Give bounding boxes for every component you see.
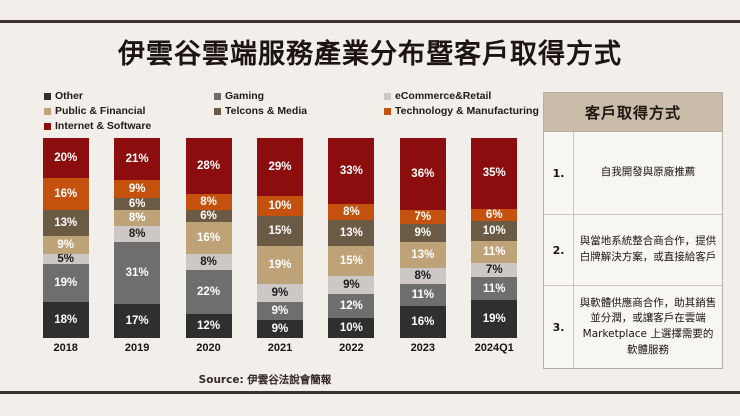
legend-item-telcons-media[interactable]: Telcons & Media — [214, 106, 384, 117]
legend-item-other[interactable]: Other — [44, 91, 214, 102]
bar-segment: 9% — [257, 320, 303, 338]
legend-item-internet-software[interactable]: Internet & Software — [44, 121, 214, 132]
bar-column[interactable]: 28%8%6%16%8%22%12% — [174, 138, 244, 338]
bar-segment: 15% — [257, 216, 303, 246]
bar-segment: 10% — [257, 196, 303, 216]
row-number: 3. — [544, 286, 574, 368]
legend-swatch-icon — [384, 108, 391, 115]
x-axis-tick-label: 2018 — [31, 342, 101, 354]
legend-swatch-icon — [214, 93, 221, 100]
legend-item-label: Telcons & Media — [225, 106, 307, 117]
bar-segment: 17% — [114, 304, 160, 338]
legend-swatch-icon — [44, 108, 51, 115]
bar-column[interactable]: 35%6%10%11%7%11%19% — [459, 138, 529, 338]
bar-segment: 11% — [400, 284, 446, 306]
stacked-bar: 21%9%6%8%8%31%17% — [114, 138, 160, 338]
customer-acquisition-panel: 客戶取得方式 1.自我開發與原廠推薦2.與當地系統整合商合作，提供白牌解決方案，… — [543, 92, 723, 369]
bar-segment: 6% — [114, 198, 160, 210]
bar-segment: 8% — [328, 204, 374, 220]
legend-item-gaming[interactable]: Gaming — [214, 91, 384, 102]
bar-segment: 19% — [257, 246, 303, 284]
row-number: 2. — [544, 215, 574, 285]
bar-segment: 18% — [43, 302, 89, 338]
legend-item-label: Internet & Software — [55, 121, 151, 132]
bar-segment: 8% — [186, 194, 232, 210]
bar-segment: 29% — [257, 138, 303, 196]
bar-segment: 16% — [400, 306, 446, 338]
x-axis-tick-label: 2022 — [316, 342, 386, 354]
bar-column[interactable]: 20%16%13%9%5%19%18% — [31, 138, 101, 338]
x-axis-tick-label: 2019 — [102, 342, 172, 354]
legend-item-label: Gaming — [225, 91, 264, 102]
bar-segment: 8% — [114, 226, 160, 242]
bar-segment: 19% — [471, 300, 517, 338]
source-note: Source: 伊雲谷法說會簡報 — [0, 372, 530, 387]
stacked-bar: 35%6%10%11%7%11%19% — [471, 138, 517, 338]
x-axis-tick-label: 2023 — [388, 342, 458, 354]
legend-item-label: Other — [55, 91, 83, 102]
bar-segment: 36% — [400, 138, 446, 210]
page-title: 伊雲谷雲端服務產業分布暨客戶取得方式 — [0, 32, 740, 71]
legend-item-label: Public & Financial — [55, 106, 145, 117]
legend-item-label: Technology & Manufacturing — [395, 106, 539, 117]
bar-segment: 13% — [43, 210, 89, 236]
stacked-bar: 20%16%13%9%5%19%18% — [43, 138, 89, 338]
bar-segment: 21% — [114, 138, 160, 180]
x-axis-tick-label: 2021 — [245, 342, 315, 354]
slide-root: 伊雲谷雲端服務產業分布暨客戶取得方式 OtherGamingeCommerce&… — [0, 0, 740, 416]
bar-column[interactable]: 36%7%9%13%8%11%16% — [388, 138, 458, 338]
legend-swatch-icon — [44, 93, 51, 100]
bar-segment: 12% — [328, 294, 374, 318]
bar-column[interactable]: 33%8%13%15%9%12%10% — [316, 138, 386, 338]
bar-segment: 28% — [186, 138, 232, 194]
bar-segment: 11% — [471, 241, 517, 263]
bar-segment: 9% — [400, 224, 446, 242]
table-row: 3.與軟體供應商合作，助其銷售並分潤，或讓客戶在雲端 Marketplace 上… — [544, 286, 722, 368]
row-description: 與軟體供應商合作，助其銷售並分潤，或讓客戶在雲端 Marketplace 上選擇… — [574, 286, 722, 368]
bar-segment: 13% — [400, 242, 446, 268]
bottom-divider — [0, 391, 740, 394]
legend-item-label: eCommerce&Retail — [395, 91, 491, 102]
bar-segment: 6% — [186, 210, 232, 222]
table-row: 1.自我開發與原廠推薦 — [544, 132, 722, 215]
panel-rows: 1.自我開發與原廠推薦2.與當地系統整合商合作，提供白牌解決方案，或直接給客戶3… — [544, 132, 722, 368]
x-axis-labels: 2018201920202021202220232024Q1 — [30, 342, 530, 354]
legend-item-technology-manufacturing[interactable]: Technology & Manufacturing — [384, 106, 564, 117]
bar-segment: 20% — [43, 138, 89, 178]
legend-item-ecommerce-retail[interactable]: eCommerce&Retail — [384, 91, 564, 102]
bar-segment: 11% — [471, 277, 517, 299]
row-description: 與當地系統整合商合作，提供白牌解決方案，或直接給客戶 — [574, 215, 722, 285]
bar-segment: 9% — [43, 236, 89, 254]
row-description: 自我開發與原廠推薦 — [574, 132, 722, 214]
bar-segment: 8% — [400, 268, 446, 284]
bar-segment: 9% — [257, 302, 303, 320]
legend-swatch-icon — [214, 108, 221, 115]
bar-segment: 35% — [471, 138, 517, 209]
stacked-bar: 29%10%15%19%9%9%9% — [257, 138, 303, 338]
x-axis-tick-label: 2020 — [174, 342, 244, 354]
bar-segment: 12% — [186, 314, 232, 338]
bar-segment: 9% — [114, 180, 160, 198]
bar-segment: 6% — [471, 209, 517, 221]
bar-column[interactable]: 21%9%6%8%8%31%17% — [102, 138, 172, 338]
chart-bars: 20%16%13%9%5%19%18%21%9%6%8%8%31%17%28%8… — [30, 138, 530, 338]
table-row: 2.與當地系統整合商合作，提供白牌解決方案，或直接給客戶 — [544, 215, 722, 286]
bar-segment: 10% — [328, 318, 374, 338]
bar-segment: 13% — [328, 220, 374, 246]
x-axis-tick-label: 2024Q1 — [459, 342, 529, 354]
stacked-bar: 28%8%6%16%8%22%12% — [186, 138, 232, 338]
bar-segment: 5% — [43, 254, 89, 264]
bar-segment: 22% — [186, 270, 232, 314]
bar-segment: 7% — [471, 263, 517, 277]
bar-segment: 19% — [43, 264, 89, 302]
bar-segment: 31% — [114, 242, 160, 304]
bar-segment: 7% — [400, 210, 446, 224]
row-number: 1. — [544, 132, 574, 214]
stacked-bar-chart: 20%16%13%9%5%19%18%21%9%6%8%8%31%17%28%8… — [30, 138, 530, 368]
top-divider — [0, 20, 740, 23]
stacked-bar: 36%7%9%13%8%11%16% — [400, 138, 446, 338]
bar-segment: 15% — [328, 246, 374, 276]
bar-segment: 9% — [257, 284, 303, 302]
bar-segment: 8% — [186, 254, 232, 270]
bar-segment: 16% — [43, 178, 89, 210]
bar-column[interactable]: 29%10%15%19%9%9%9% — [245, 138, 315, 338]
bar-segment: 8% — [114, 210, 160, 226]
legend-swatch-icon — [384, 93, 391, 100]
chart-legend: OtherGamingeCommerce&RetailPublic & Fina… — [44, 89, 534, 134]
bar-segment: 33% — [328, 138, 374, 204]
stacked-bar: 33%8%13%15%9%12%10% — [328, 138, 374, 338]
bar-segment: 16% — [186, 222, 232, 254]
panel-header: 客戶取得方式 — [544, 93, 722, 132]
legend-swatch-icon — [44, 123, 51, 130]
bar-segment: 9% — [328, 276, 374, 294]
legend-item-public-financial[interactable]: Public & Financial — [44, 106, 214, 117]
bar-segment: 10% — [471, 221, 517, 241]
